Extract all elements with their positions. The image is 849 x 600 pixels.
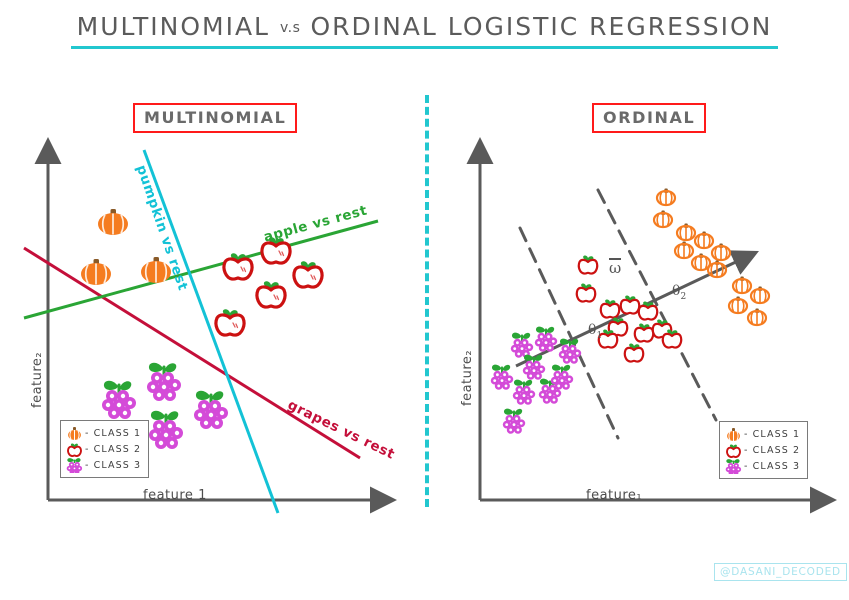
title-vs: v.s <box>280 20 300 36</box>
legend-item: - CLASS 1 <box>725 426 800 442</box>
legend-item: - CLASS 1 <box>66 425 141 441</box>
weight-vector-label: ω <box>609 258 621 277</box>
title-part-2: ORDINAL LOGISTIC REGRESSION <box>310 12 772 41</box>
panel-tag-multinomial: MULTINOMIAL <box>133 103 297 133</box>
grapes-icon <box>66 458 83 473</box>
legend-item: - CLASS 3 <box>725 458 800 474</box>
x-axis-label-left: feature 1 <box>143 488 207 503</box>
grapes-icon <box>725 459 742 474</box>
panel-divider <box>425 95 429 507</box>
data-point-apple <box>216 237 322 335</box>
apple-icon <box>725 443 742 458</box>
page-title: MULTINOMIALv.sORDINAL LOGISTIC REGRESSIO… <box>71 12 779 49</box>
legend-label: - CLASS 1 <box>85 428 141 439</box>
threshold-label-theta-2: θ2 <box>672 283 686 302</box>
threshold-label-theta-1: θ1 <box>588 322 602 341</box>
legend-label: - CLASS 2 <box>744 445 800 456</box>
apple-icon <box>66 442 83 457</box>
legend-item: - CLASS 2 <box>66 441 141 457</box>
data-point-grapes <box>491 327 581 434</box>
poster-canvas: MULTINOMIALv.sORDINAL LOGISTIC REGRESSIO… <box>0 0 849 600</box>
data-point-apple <box>577 255 681 361</box>
legend-label: - CLASS 3 <box>85 460 141 471</box>
legend-ordinal: - CLASS 1 - CLASS 2 <box>719 421 808 479</box>
title-part-1: MULTINOMIAL <box>77 12 270 41</box>
pumpkin-icon <box>725 427 742 442</box>
legend-item: - CLASS 2 <box>725 442 800 458</box>
y-axis-label-left: feature₂ <box>30 352 45 408</box>
pumpkin-icon <box>66 426 83 441</box>
decision-boundary-pumpkin <box>144 150 278 513</box>
watermark: @DASANI_DECODED <box>714 563 847 581</box>
legend-label: - CLASS 3 <box>744 461 800 472</box>
data-point-pumpkin <box>654 189 769 326</box>
legend-label: - CLASS 1 <box>744 429 800 440</box>
legend-multinomial: - CLASS 1 - CLASS 2 <box>60 420 149 478</box>
panel-tag-ordinal: ORDINAL <box>592 103 706 133</box>
legend-item: - CLASS 3 <box>66 457 141 473</box>
y-axis-label-right: feature₂ <box>460 350 475 406</box>
legend-label: - CLASS 2 <box>85 444 141 455</box>
title-area: MULTINOMIALv.sORDINAL LOGISTIC REGRESSIO… <box>0 12 849 49</box>
x-axis-label-right: feature₁ <box>586 488 642 503</box>
